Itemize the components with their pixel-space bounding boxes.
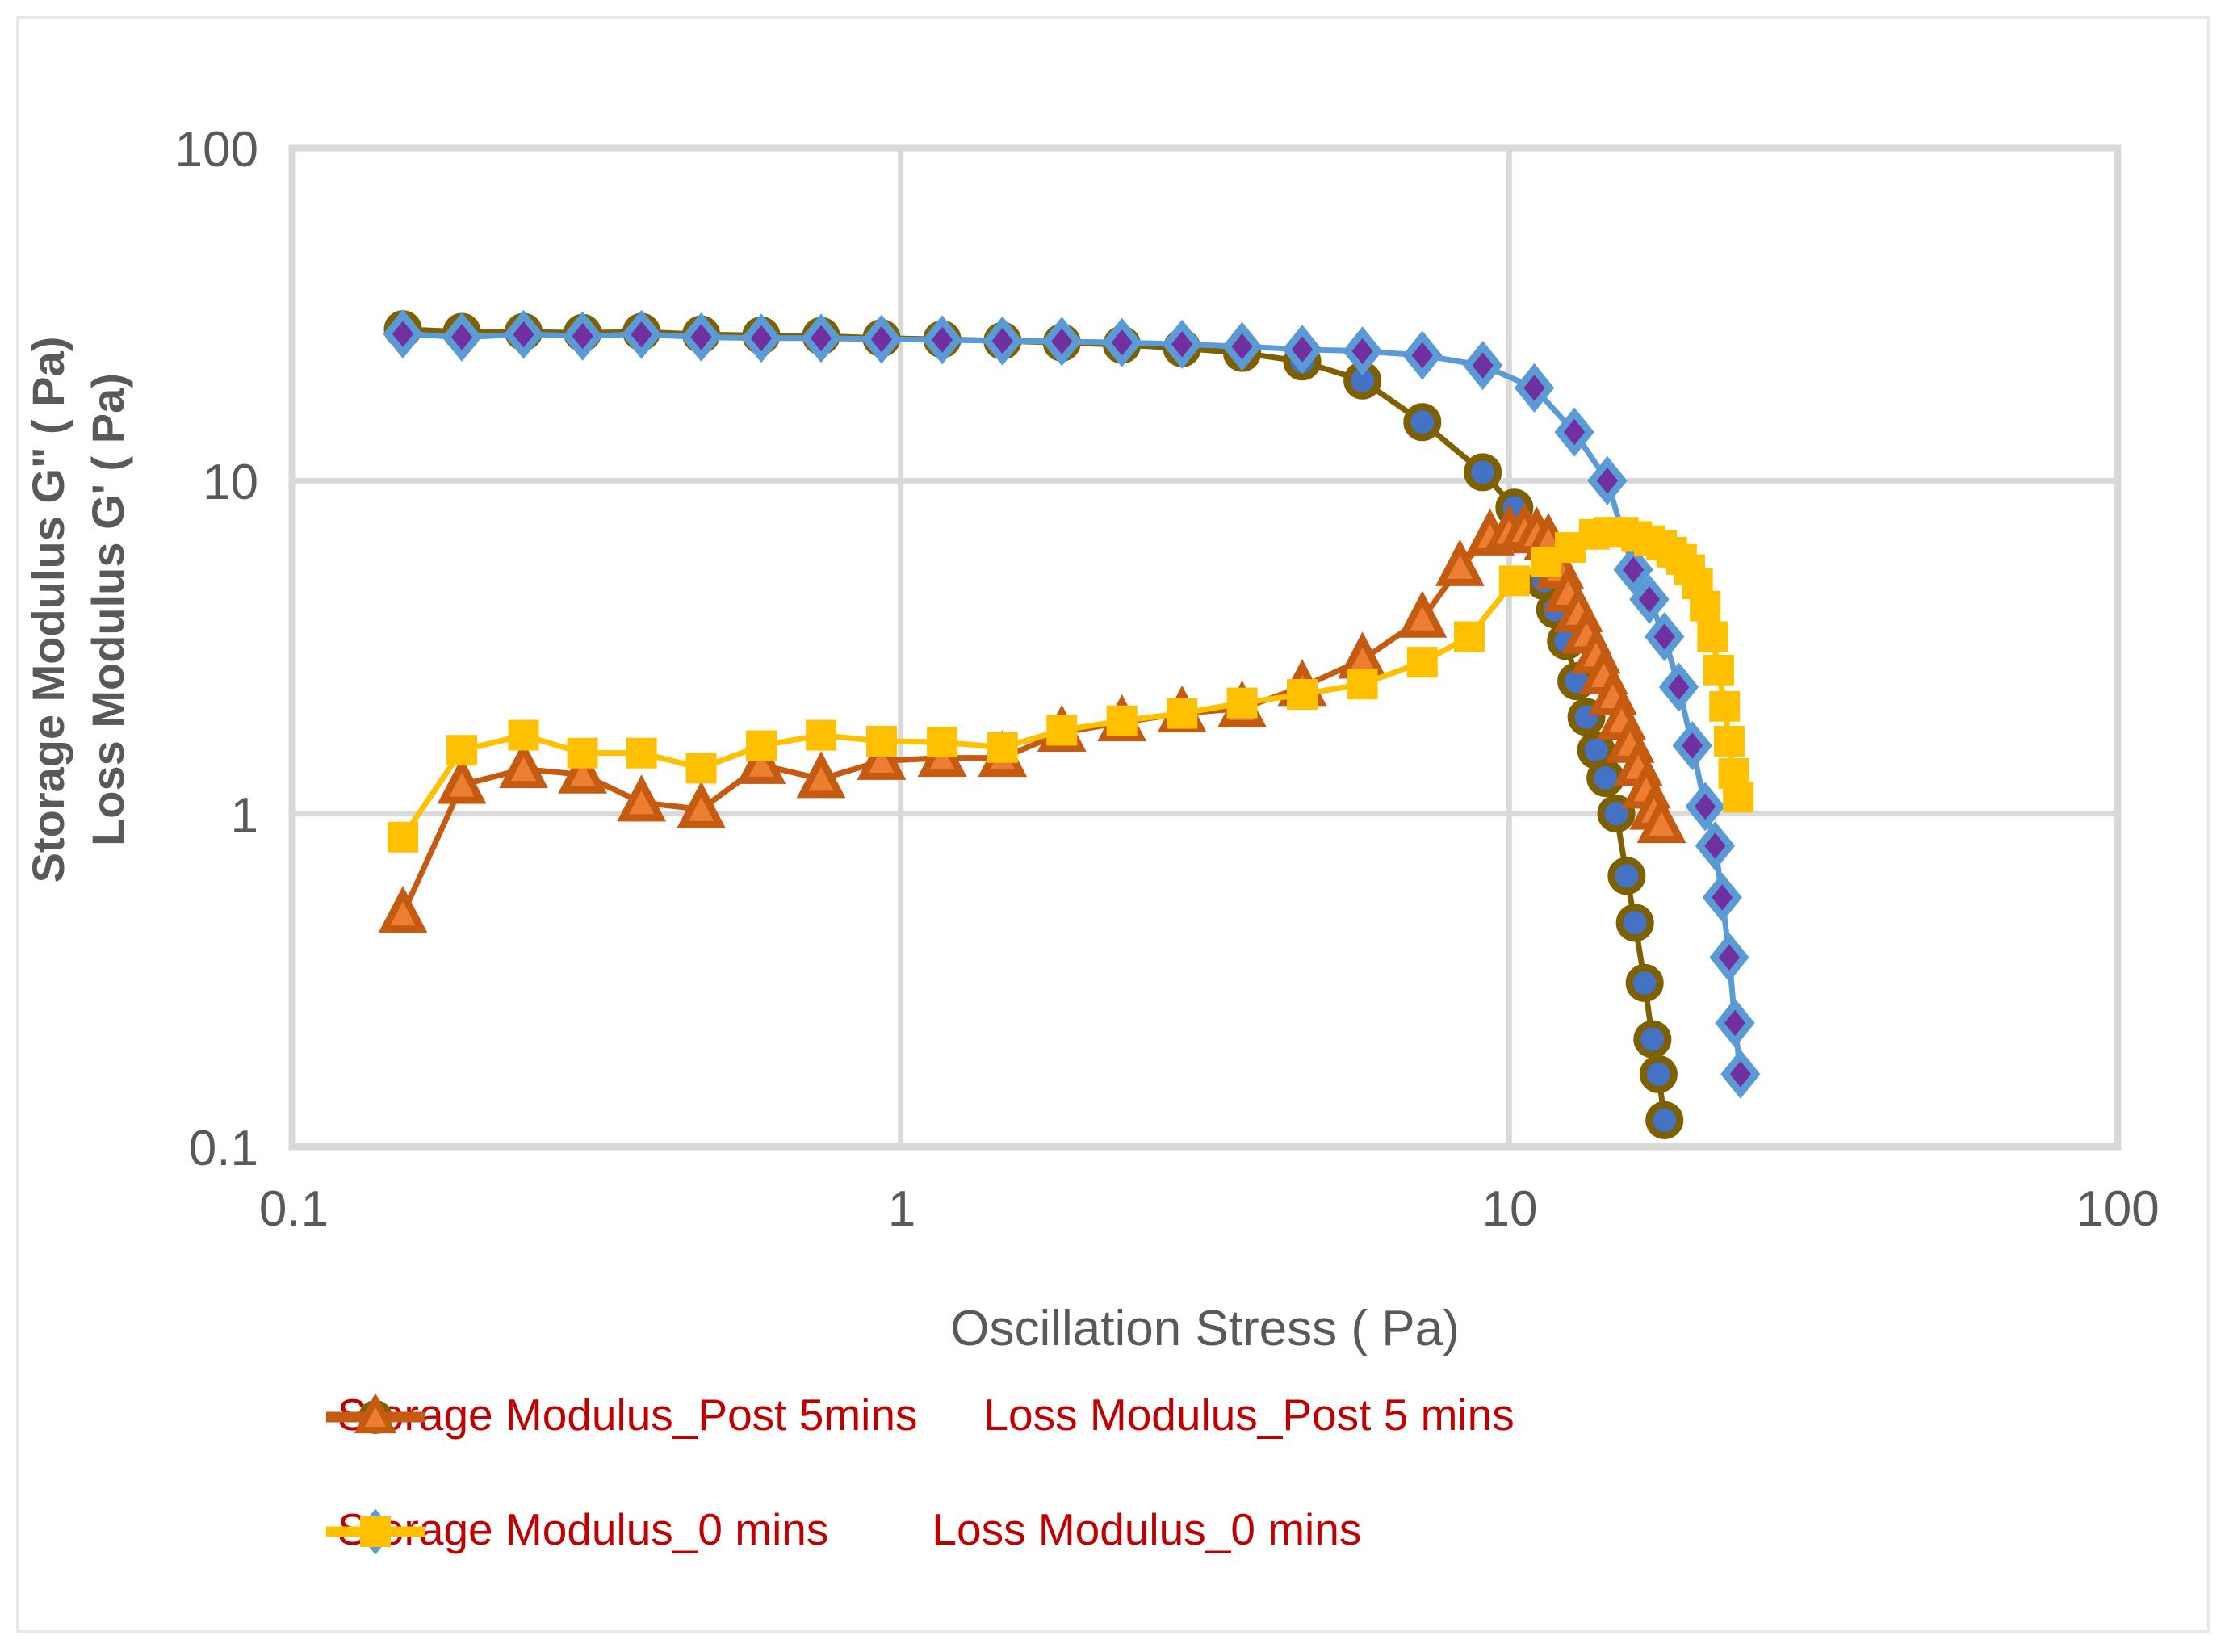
series-0 <box>388 314 1680 1136</box>
legend-label-loss-post-5mins: Loss Modulus_Post 5 mins <box>983 1389 1514 1440</box>
legend-row-2: Storage Modulus_0 mins Loss Modulus_0 mi… <box>323 1503 1413 1555</box>
grid-layer <box>292 148 2118 1147</box>
series-3 <box>388 517 1753 853</box>
series-2 <box>388 315 1756 1093</box>
legend-row-1: Storage Modulus_Post 5mins Loss Modulus_… <box>323 1389 1566 1440</box>
legend-marker-square <box>323 1503 428 1560</box>
legend-marker-triangle <box>323 1389 428 1445</box>
legend-item-loss-0mins[interactable]: Loss Modulus_0 mins <box>917 1503 1361 1555</box>
legend-label-loss-0mins: Loss Modulus_0 mins <box>932 1503 1361 1555</box>
series-1 <box>384 510 1680 929</box>
chart-root: Storage Modulus G" ( Pa) Loss Modulus G'… <box>0 0 2229 1652</box>
series-layer <box>384 314 1756 1136</box>
legend-item-loss-post-5mins[interactable]: Loss Modulus_Post 5 mins <box>969 1389 1514 1440</box>
